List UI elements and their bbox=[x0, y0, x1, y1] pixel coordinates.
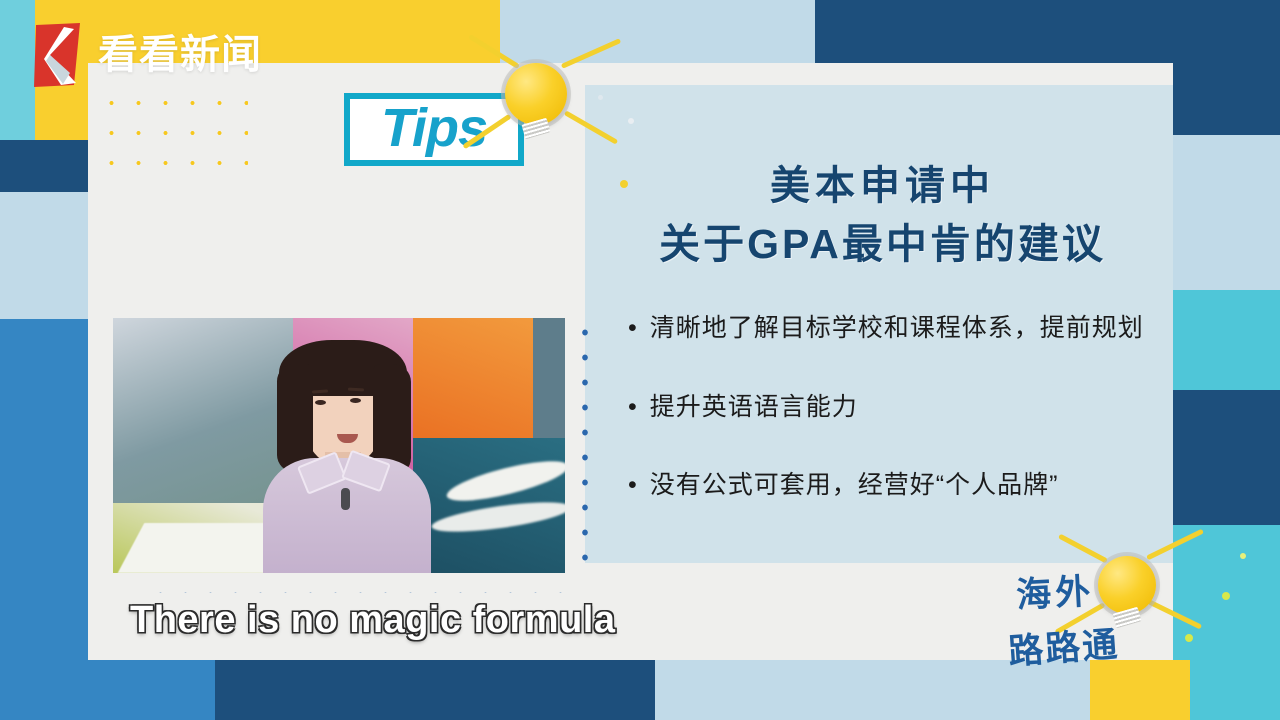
bullet-text: 清晰地了解目标学校和课程体系，提前规划 bbox=[650, 312, 1144, 345]
sparkle-dot bbox=[628, 118, 634, 124]
speaker-figure bbox=[249, 340, 439, 573]
bg-block-bottom-yellow bbox=[1090, 660, 1190, 720]
program-brand-line-1: 海外 bbox=[1015, 559, 1174, 618]
program-brand-line-2: 路路通 bbox=[1006, 612, 1174, 674]
bg-block-bottom-navy bbox=[215, 660, 655, 720]
headline-line-2: 关于GPA最中肯的建议 bbox=[600, 215, 1165, 273]
bullet-text: 没有公式可套用，经营好“个人品牌” bbox=[650, 469, 1059, 502]
yellow-dot-grid bbox=[98, 88, 248, 180]
bullet-text: 提升英语语言能力 bbox=[650, 391, 858, 424]
sparkle-dot bbox=[598, 95, 603, 100]
tips-badge: Tips bbox=[344, 93, 524, 166]
blue-dot-row bbox=[148, 583, 578, 593]
headline: 美本申请中 关于GPA最中肯的建议 bbox=[600, 158, 1165, 273]
bullet-list: • 清晰地了解目标学校和课程体系，提前规划 • 提升英语语言能力 • 没有公式可… bbox=[628, 312, 1173, 548]
headline-line-1: 美本申请中 bbox=[600, 158, 1165, 215]
k-mark-icon bbox=[30, 21, 86, 89]
sparkle-dot bbox=[1240, 553, 1246, 559]
sparkle-dot bbox=[1222, 592, 1230, 600]
caption-subtitle: There is no magic formula bbox=[130, 600, 630, 642]
bullet-marker: • bbox=[628, 312, 638, 345]
list-item: • 没有公式可套用，经营好“个人品牌” bbox=[628, 469, 1173, 502]
lightbulb-icon bbox=[505, 63, 567, 125]
program-brand: 海外 路路通 bbox=[1008, 563, 1173, 669]
channel-logo: 看看新闻 bbox=[30, 21, 270, 89]
speaker-photo bbox=[113, 318, 565, 573]
bg-block-right-lightblue bbox=[1173, 135, 1280, 290]
list-item: • 清晰地了解目标学校和课程体系，提前规划 bbox=[628, 312, 1173, 345]
lapel-mic-icon bbox=[341, 488, 350, 510]
bullet-marker: • bbox=[628, 469, 638, 502]
bg-block-bottom-left-blue bbox=[0, 650, 215, 720]
list-item: • 提升英语语言能力 bbox=[628, 391, 1173, 424]
bg-block-right-navy bbox=[1173, 390, 1280, 525]
tips-badge-label: Tips bbox=[381, 101, 487, 155]
sparkle-dot bbox=[1185, 634, 1193, 642]
channel-logo-text: 看看新闻 bbox=[98, 35, 262, 75]
bg-block-right-cyan bbox=[1173, 290, 1280, 390]
bullet-marker: • bbox=[628, 391, 638, 424]
blue-dot-column bbox=[573, 320, 603, 577]
